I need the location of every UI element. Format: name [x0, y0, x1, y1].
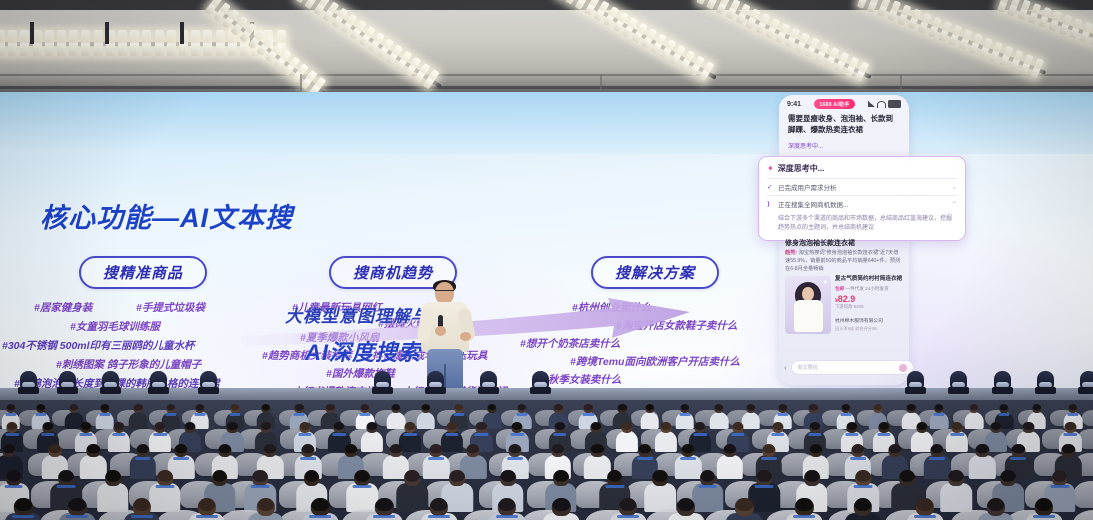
- audience-head: [113, 422, 124, 433]
- audience-head: [878, 422, 889, 433]
- chair: [1082, 410, 1093, 426]
- thinking-card: ✦ 深度思考中... ✓ 已完成用户需求分析 ⌄ ⟩ 正在搜集全网商机数据...…: [758, 156, 966, 241]
- audience-head: [590, 422, 601, 433]
- input-placeholder: 有文要找: [798, 364, 818, 371]
- ceiling-lamp: [8, 30, 17, 56]
- audience-head: [853, 498, 871, 516]
- audience-member: [543, 498, 580, 520]
- audience-member: [361, 422, 383, 454]
- audience-head: [68, 498, 86, 516]
- audience-head: [723, 444, 736, 457]
- lanyard: [445, 433, 458, 436]
- lanyard: [359, 413, 370, 416]
- audience-head: [809, 422, 820, 433]
- tag-item: #居家健身装: [34, 300, 92, 315]
- lanyard: [298, 433, 311, 436]
- lanyard: [1068, 413, 1079, 416]
- moving-head-light: [57, 368, 78, 394]
- status-time: 9:41: [787, 101, 801, 108]
- audience-body: [361, 431, 383, 452]
- lanyard: [877, 433, 890, 436]
- audience-head: [311, 498, 329, 516]
- audience-head: [48, 444, 61, 457]
- lanyard: [496, 515, 518, 518]
- audience-head: [653, 470, 669, 486]
- moving-head-light: [18, 368, 39, 394]
- moving-head-light: [1035, 368, 1056, 394]
- audience-head: [467, 444, 480, 457]
- lanyard: [66, 515, 88, 518]
- thinking-card-title: ✦ 深度思考中...: [767, 163, 957, 174]
- lanyard: [194, 413, 205, 416]
- lanyard: [929, 457, 945, 460]
- audience-body: [710, 412, 729, 429]
- ceiling-lamp: [191, 30, 200, 56]
- audience-head: [375, 498, 393, 516]
- chair: [1073, 510, 1093, 520]
- audience-member: [610, 498, 647, 520]
- moving-head-light: [148, 368, 169, 394]
- wifi-icon: [877, 101, 886, 108]
- speaker-right-hand: [460, 332, 471, 341]
- audience-member: [59, 498, 96, 520]
- product-card[interactable]: 修身泡泡袖长款连衣裙 趋势: 淘宝热搜词"修身泡泡袖长款连衣裙"近7天增速55.…: [779, 238, 909, 334]
- product-coupon: 下游同款 ¥209: [835, 304, 903, 310]
- free-shipping-tag: 包邮: [835, 286, 844, 291]
- product-name: 复古气质简约村衬简连衣裙: [835, 276, 903, 284]
- column-heading-3: 搜解决方案: [591, 256, 719, 289]
- audience-head: [6, 470, 22, 486]
- battery-icon: [888, 100, 901, 108]
- product-shop[interactable]: 杭州棉木服饰有限公司: [835, 317, 903, 324]
- star-icon[interactable]: ★: [823, 279, 828, 286]
- slide-title: 核心功能—AI文本搜: [40, 196, 293, 235]
- slide-column-1: 搜精准商品 #居家健身装 #手提式垃圾袋 #女童羽毛球训练服 #304不锈钢 5…: [18, 256, 268, 392]
- lanyard: [12, 515, 34, 518]
- lanyard: [309, 515, 331, 518]
- back-chevron-icon[interactable]: ‹: [784, 363, 787, 372]
- audience-area: [0, 400, 1093, 520]
- chair: [1074, 481, 1093, 508]
- speaker-left-hand: [435, 326, 446, 336]
- audience-member: [302, 498, 339, 520]
- lanyard: [353, 485, 372, 488]
- ceiling-lamp: [69, 30, 78, 56]
- moving-head-light: [425, 368, 446, 394]
- lanyard: [131, 515, 153, 518]
- audience-head: [404, 470, 420, 486]
- audience-head: [846, 422, 857, 433]
- lanyard: [854, 485, 873, 488]
- audience-member: [668, 498, 705, 520]
- moving-head-light: [992, 368, 1013, 394]
- lanyard: [428, 457, 444, 460]
- audience-head: [184, 422, 195, 433]
- moving-head-light: [1078, 368, 1093, 394]
- lanyard: [41, 433, 54, 436]
- audience-head: [1023, 422, 1034, 433]
- audience-head: [446, 422, 457, 433]
- audience-head: [450, 470, 466, 486]
- audience-head: [757, 470, 773, 486]
- phone-status-bar: 9:41 1688 AI助手: [779, 95, 909, 111]
- audience-head: [3, 444, 16, 457]
- audience-head: [175, 444, 188, 457]
- audience-head: [554, 422, 565, 433]
- moving-head-light: [198, 368, 219, 394]
- audience-head: [804, 470, 820, 486]
- audience-head: [795, 498, 813, 516]
- audience-head: [621, 422, 632, 433]
- audience-head: [7, 422, 18, 433]
- audience-head: [948, 470, 964, 486]
- product-shipping: 包邮 一件代发 24小时发货: [835, 286, 903, 292]
- ceiling-lamp: [118, 30, 127, 56]
- lanyard: [755, 485, 774, 488]
- audience-head: [695, 422, 706, 433]
- lanyard: [251, 485, 270, 488]
- truss-hanger: [180, 22, 184, 44]
- ceiling-lamp: [45, 30, 54, 56]
- audience-head: [552, 498, 570, 516]
- audience-head: [553, 470, 569, 486]
- lanyard: [1050, 485, 1069, 488]
- lanyard: [605, 485, 624, 488]
- moving-head-light: [372, 368, 393, 394]
- ceiling-lamp: [81, 30, 90, 56]
- audience-head: [302, 444, 315, 457]
- ceiling-lamp: [155, 30, 164, 56]
- audience-head: [334, 422, 345, 433]
- audience-head: [660, 422, 671, 433]
- tag-item: #手提式垃圾袋: [136, 300, 205, 315]
- product-price: ¥82.9: [835, 294, 903, 304]
- lanyard: [998, 413, 1009, 416]
- lanyard: [793, 515, 815, 518]
- lanyard: [453, 413, 464, 416]
- audience-head: [1062, 444, 1075, 457]
- lanyard: [934, 413, 945, 416]
- audience-body: [940, 483, 972, 512]
- audience-head: [735, 498, 753, 516]
- lanyard: [57, 485, 76, 488]
- audience-head: [476, 422, 487, 433]
- lanyard: [698, 485, 717, 488]
- lanyard: [850, 457, 866, 460]
- lanyard: [404, 433, 417, 436]
- audience-head: [1065, 422, 1076, 433]
- product-image[interactable]: ★: [785, 276, 831, 334]
- audience-head: [304, 470, 320, 486]
- lanyard: [680, 457, 696, 460]
- lanyard: [154, 433, 167, 436]
- audience-member: [247, 498, 284, 520]
- audience-head: [682, 444, 695, 457]
- audience-head: [198, 498, 216, 516]
- lanyard: [845, 433, 858, 436]
- audience-head: [509, 444, 522, 457]
- product-card-body: ★ 复古气质简约村衬简连衣裙 包邮 一件代发 24小时发货 ¥82.9 下游同款…: [779, 276, 909, 334]
- ceiling-lamp: [94, 30, 103, 56]
- audience-head: [990, 422, 1001, 433]
- chevron-down-icon[interactable]: ⌄: [952, 184, 957, 191]
- audience-head: [14, 498, 32, 516]
- lanyard: [808, 433, 821, 436]
- audience-head: [591, 444, 604, 457]
- slide-subtitle-line1: 大模型意图理解与: [285, 302, 429, 327]
- audience-member: [5, 498, 42, 520]
- audience-head: [856, 470, 872, 486]
- check-icon: ✓: [767, 183, 774, 191]
- lanyard: [4, 485, 23, 488]
- audience-head: [42, 422, 53, 433]
- audience-head: [252, 470, 268, 486]
- thinking-title-text: 深度思考中...: [778, 163, 825, 174]
- product-card-title: 修身泡泡袖长款连衣裙: [779, 238, 909, 250]
- ceiling-lamp: [203, 30, 212, 56]
- ceiling-lamp: [167, 30, 176, 56]
- audience-head: [1035, 498, 1053, 516]
- signal-icon: [868, 101, 875, 107]
- audience-member: [710, 404, 729, 431]
- audience-head: [762, 444, 775, 457]
- lanyard: [761, 457, 777, 460]
- screen-top-band: [0, 92, 1093, 154]
- audience-member: [907, 498, 944, 520]
- audience-head: [133, 498, 151, 516]
- moving-head-light: [100, 368, 121, 394]
- lanyard: [694, 433, 707, 436]
- audience-head: [1012, 444, 1025, 457]
- audience-head: [155, 422, 166, 433]
- tag-item: #秋季女装卖什么: [542, 372, 621, 387]
- lanyard: [679, 413, 690, 416]
- tag-cloud-1: #居家健身装 #手提式垃圾袋 #女童羽毛球训练服 #304不锈钢 500ml印有…: [18, 298, 268, 392]
- moving-head-light: [948, 368, 969, 394]
- ceiling-lamp: [57, 30, 66, 56]
- model-dress: [794, 300, 823, 332]
- lanyard: [951, 433, 964, 436]
- lanyard: [196, 515, 218, 518]
- audience-head: [607, 470, 623, 486]
- lanyard: [333, 433, 346, 436]
- audience-head: [512, 422, 523, 433]
- audience-head: [219, 444, 232, 457]
- lanyard: [511, 433, 524, 436]
- lanyard: [428, 515, 450, 518]
- tag-item: #跨境Temu面向欧洲客户开店卖什么: [570, 354, 740, 369]
- lanyard: [771, 433, 784, 436]
- audience-member: [421, 498, 458, 520]
- audience-head: [389, 444, 402, 457]
- lanyard: [99, 413, 110, 416]
- audience-member: [108, 422, 130, 454]
- audience-head: [430, 498, 448, 516]
- audience-head: [500, 470, 516, 486]
- audience-head: [405, 422, 416, 433]
- audience-head: [976, 444, 989, 457]
- audience-member: [366, 498, 403, 520]
- lanyard: [155, 485, 174, 488]
- ai-assistant-badge: 1688 AI助手: [814, 99, 854, 109]
- screenshot-root: 核心功能—AI文本搜 搜精准商品 #居家健身装 #手提式垃圾袋 #女童羽毛球训练…: [0, 0, 1093, 520]
- lanyard: [777, 413, 788, 416]
- audience-member: [123, 498, 160, 520]
- audience-head: [619, 498, 637, 516]
- audience-member: [129, 404, 148, 431]
- truss-hanger: [30, 22, 34, 44]
- audience-head: [105, 470, 121, 486]
- spinner-icon: ⟩: [767, 200, 774, 208]
- thinking-note: 结合下游多个渠道的商品和市场数据，总结商品红蓝海建议，挖掘趋势热点的主题词，并总…: [767, 212, 957, 234]
- phone-mini-thinking: 深度思考中...: [788, 141, 900, 150]
- audience-member: [1026, 498, 1063, 520]
- thinking-step[interactable]: ✓ 已完成用户需求分析 ⌄: [767, 178, 957, 195]
- lanyard: [229, 413, 240, 416]
- lanyard: [294, 413, 305, 416]
- moving-head-light: [530, 368, 551, 394]
- lanyard: [1010, 457, 1026, 460]
- lanyard: [5, 413, 16, 416]
- trend-text: 淘宝热搜词"修身泡泡袖长款连衣裙"近7天增速55.9%，销量前50的商品平均销量…: [785, 250, 900, 272]
- audience-head: [732, 422, 743, 433]
- audience-head: [772, 422, 783, 433]
- ceiling-lamp: [0, 30, 5, 56]
- lanyard: [165, 413, 176, 416]
- audience-head: [81, 422, 92, 433]
- audience-member: [726, 498, 763, 520]
- lanyard: [1033, 515, 1055, 518]
- audience-head: [809, 444, 822, 457]
- lanyard: [475, 433, 488, 436]
- audience-head: [87, 444, 100, 457]
- lanyard: [173, 457, 189, 460]
- product-stats: 回头率9成 综合评分96: [835, 326, 903, 332]
- ceiling-lamp: [130, 30, 139, 56]
- audience-head: [952, 422, 963, 433]
- audience-member: [940, 470, 972, 515]
- lanyard: [553, 433, 566, 436]
- price-value: 82.9: [838, 294, 856, 304]
- thinking-step-text: 已完成用户需求分析: [778, 182, 948, 192]
- audience-member: [189, 498, 226, 520]
- audience-head: [136, 444, 149, 457]
- audience-head: [551, 444, 564, 457]
- audience-head: [261, 422, 272, 433]
- trend-label: 趋势:: [785, 250, 797, 256]
- truss-hanger: [105, 22, 109, 44]
- lanyard: [35, 413, 46, 416]
- speaker-glasses: [435, 290, 454, 295]
- lanyard: [617, 515, 639, 518]
- audience-head: [917, 422, 928, 433]
- audience-head: [1052, 470, 1068, 486]
- search-input[interactable]: 有文要找: [791, 360, 914, 375]
- audience-head: [931, 444, 944, 457]
- status-icons: [868, 100, 901, 108]
- audience-member: [489, 498, 526, 520]
- lanyard: [516, 413, 527, 416]
- thinking-step[interactable]: ⟩ 正在搜集全网商机数据... ⌃: [767, 195, 957, 212]
- lanyard: [6, 433, 19, 436]
- lanyard: [840, 413, 851, 416]
- product-card-desc: 趋势: 淘宝热搜词"修身泡泡袖长款连衣裙"近7天增速55.9%，销量前50的商品…: [779, 250, 909, 276]
- lanyard: [112, 433, 125, 436]
- audience-head: [430, 444, 443, 457]
- lanyard: [373, 515, 395, 518]
- audience-head: [916, 498, 934, 516]
- audience-body: [129, 412, 148, 429]
- audience-head: [888, 444, 901, 457]
- lanyard: [507, 457, 523, 460]
- audience-head: [344, 444, 357, 457]
- tag-item: #女童羽毛球训练服: [70, 319, 160, 334]
- lanyard: [1064, 433, 1077, 436]
- presentation-screen: 核心功能—AI文本搜 搜精准商品 #居家健身装 #手提式垃圾袋 #女童羽毛球训练…: [0, 92, 1093, 392]
- product-meta: 复古气质简约村衬简连衣裙 包邮 一件代发 24小时发货 ¥82.9 下游同款 ¥…: [835, 276, 903, 334]
- moving-head-light: [905, 368, 926, 394]
- chat-input-bar[interactable]: ‹ 有文要找: [779, 360, 919, 375]
- audience-head: [299, 422, 310, 433]
- lanyard: [135, 457, 151, 460]
- tag-item: #304不锈钢 500ml印有三丽鸥的儿童水杯: [2, 338, 195, 353]
- lanyard: [80, 433, 93, 436]
- shipping-text: 一件代发 24小时发货: [845, 286, 888, 291]
- audience-head: [986, 498, 1004, 516]
- audience-head: [899, 470, 915, 486]
- sparkle-icon: ✦: [767, 164, 774, 173]
- slide-subtitle-line2: AI深度搜索: [305, 335, 421, 367]
- ceiling-lamp: [142, 30, 151, 56]
- phone-query-text: 需要显瘦收身、泡泡袖、长款到脚踝、爆款热卖连衣裙: [779, 111, 909, 141]
- ceiling-lamp: [20, 30, 29, 56]
- lanyard: [914, 515, 936, 518]
- audience-member: [844, 498, 881, 520]
- audience-head: [498, 498, 516, 516]
- audience-head: [256, 498, 274, 516]
- audience-head: [354, 470, 370, 486]
- lanyard: [731, 433, 744, 436]
- lanyard: [300, 457, 316, 460]
- audience-head: [677, 498, 695, 516]
- audience-head: [58, 470, 74, 486]
- audience-member: [786, 498, 823, 520]
- thinking-step-text: 正在搜集全网商机数据...: [778, 199, 948, 209]
- audience-head: [367, 422, 378, 433]
- lanyard: [637, 457, 653, 460]
- moving-head-light: [478, 368, 499, 394]
- audience-head: [227, 422, 238, 433]
- audience-head: [638, 444, 651, 457]
- audience-member: [977, 498, 1014, 520]
- audience-head: [1000, 470, 1016, 486]
- lanyard: [583, 413, 594, 416]
- wall-seam-lower: [0, 86, 1093, 89]
- audience-head: [700, 470, 716, 486]
- column-heading-1: 搜精准商品: [79, 256, 207, 289]
- audience-head: [851, 444, 864, 457]
- chevron-up-icon[interactable]: ⌃: [952, 201, 957, 208]
- audience-head: [212, 470, 228, 486]
- audience-head: [157, 470, 173, 486]
- audience-head: [264, 444, 277, 457]
- wall-seam: [0, 74, 1093, 76]
